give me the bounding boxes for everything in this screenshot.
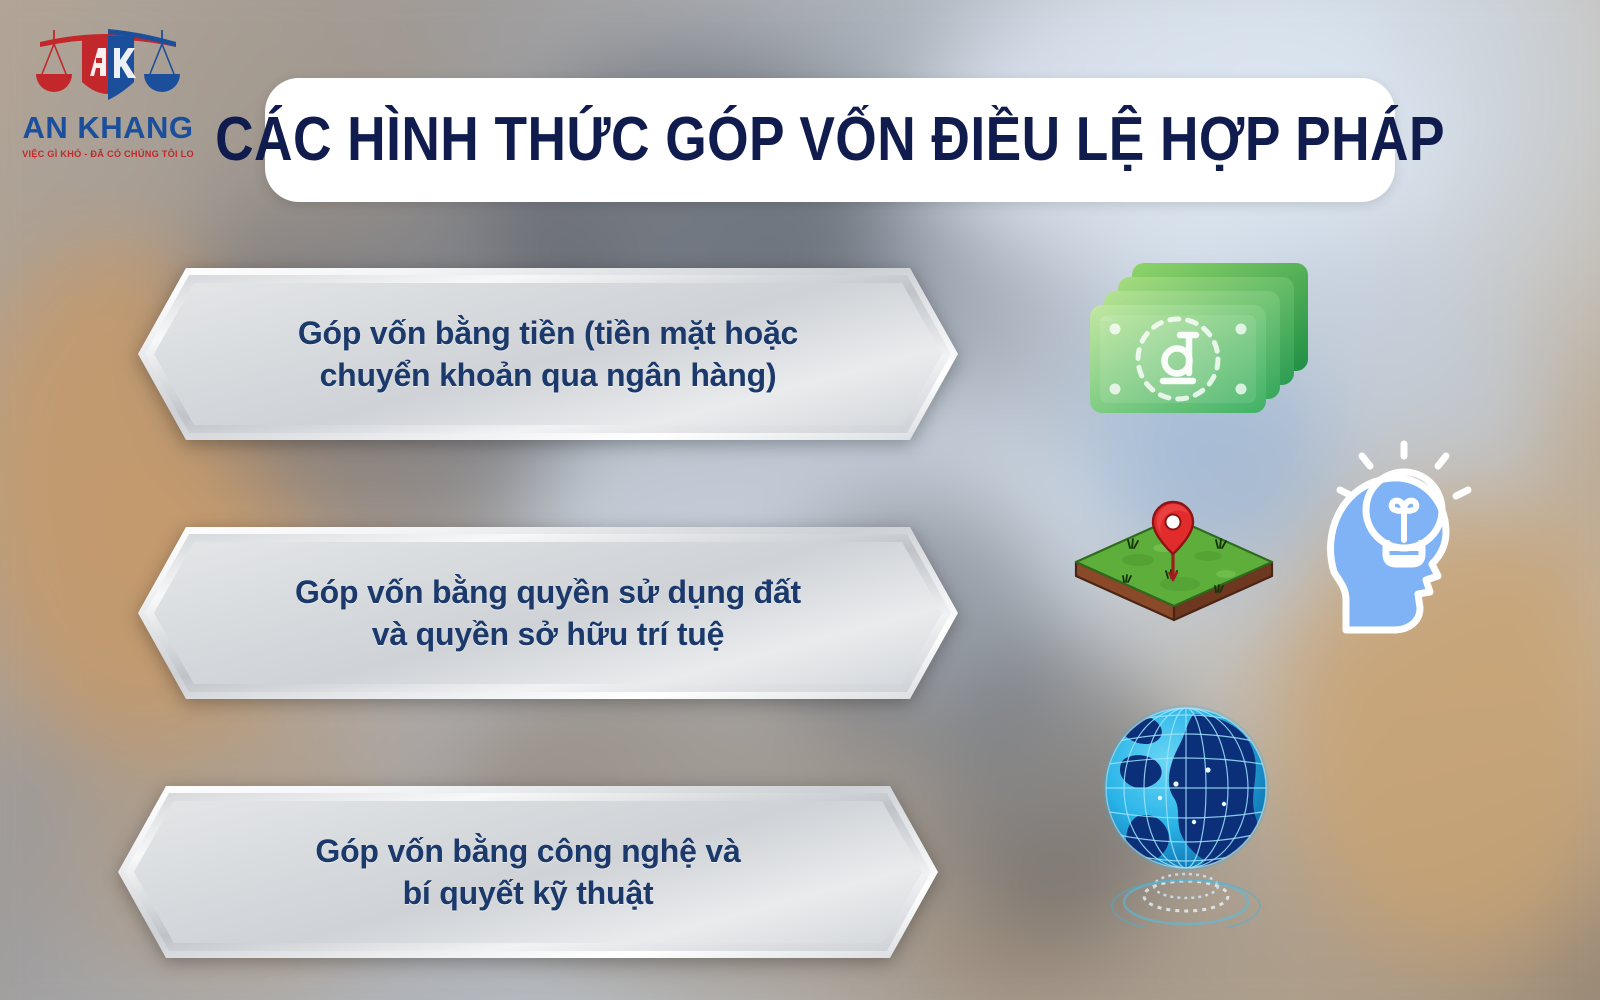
banner-land-ip[interactable]: Góp vốn bằng quyền sử dụng đất và quyền … [138, 527, 958, 699]
banner-technology[interactable]: Góp vốn bằng công nghệ và bí quyết kỹ th… [118, 786, 938, 958]
page-title: CÁC HÌNH THỨC GÓP VỐN ĐIỀU LỆ HỢP PHÁP [215, 107, 1445, 172]
brand-tagline: VIỆC GÌ KHÓ - ĐÃ CÓ CHÚNG TÔI LO [18, 149, 198, 159]
banner-cash[interactable]: Góp vốn bằng tiền (tiền mặt hoặc chuyển … [138, 268, 958, 440]
digital-globe-icon [1098, 700, 1290, 928]
banner-label-line2: bí quyết kỹ thuật [403, 875, 654, 911]
banner-inner-panel: Góp vốn bằng quyền sử dụng đất và quyền … [154, 542, 942, 684]
banner-label: Góp vốn bằng công nghệ và bí quyết kỹ th… [261, 830, 794, 914]
banner-label: Góp vốn bằng quyền sử dụng đất và quyền … [241, 571, 855, 655]
banner-inner-panel: Góp vốn bằng công nghệ và bí quyết kỹ th… [134, 801, 922, 943]
banner-inner-panel: Góp vốn bằng tiền (tiền mặt hoặc chuyển … [154, 283, 942, 425]
banner-label-line2: và quyền sở hữu trí tuệ [372, 616, 725, 652]
banner-label-line1: Góp vốn bằng tiền (tiền mặt hoặc [298, 315, 798, 351]
brand-logo[interactable]: AN KHANG VIỆC GÌ KHÓ - ĐÃ CÓ CHÚNG TÔI L… [18, 20, 198, 165]
money-banknotes-icon [1070, 255, 1320, 430]
land-plot-pin-icon [1068, 498, 1280, 628]
page-title-plate: CÁC HÌNH THỨC GÓP VỐN ĐIỀU LỆ HỢP PHÁP [265, 78, 1395, 202]
infographic-canvas: AN KHANG VIỆC GÌ KHÓ - ĐÃ CÓ CHÚNG TÔI L… [0, 0, 1600, 1000]
lightbulb-head-idea-icon [1312, 440, 1474, 640]
banner-label-line1: Góp vốn bằng công nghệ và [315, 833, 740, 869]
banner-label-line2: chuyển khoản qua ngân hàng) [320, 357, 777, 393]
scales-of-justice-icon [28, 20, 188, 112]
banner-label: Góp vốn bằng tiền (tiền mặt hoặc chuyển … [244, 312, 852, 396]
banner-label-line1: Góp vốn bằng quyền sử dụng đất [295, 574, 801, 610]
brand-name: AN KHANG [18, 110, 198, 146]
